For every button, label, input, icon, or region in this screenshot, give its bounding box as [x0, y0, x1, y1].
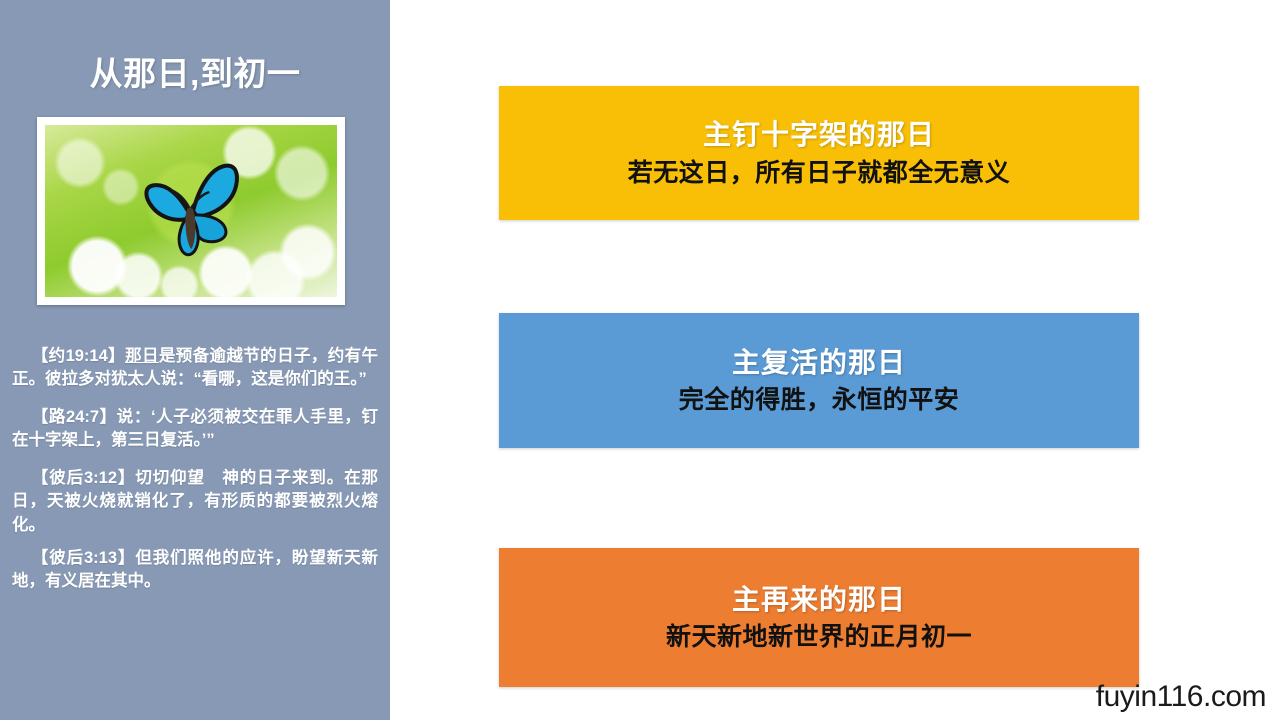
panel-subtext-2: 完全的得胜，永恒的平安 [679, 385, 960, 415]
verse-reference-2: 【路24:7】 [32, 408, 117, 426]
content-panel-crucifixion: 主钉十字架的那日 若无这日，所有日子就都全无意义 [499, 86, 1139, 220]
panel-heading-1: 主钉十字架的那日 [703, 118, 935, 151]
page-title: 从那日,到初一 [0, 56, 390, 92]
scripture-verse-1: 【约19:14】那日是预备逾越节的日子，约有午正。彼拉多对犹太人说：“看哪，这是… [8, 345, 382, 392]
scripture-verse-3: 【彼后3:12】切切仰望 神的日子来到。在那日，天被火烧就销化了，有形质的都要被… [8, 467, 382, 537]
verse-underlined-1: 那日 [125, 347, 159, 365]
butterfly-photo [45, 125, 337, 297]
photo-frame [37, 117, 345, 305]
verse-reference-1: 【约19:14】 [32, 347, 125, 365]
site-watermark: fuyin116.com [1096, 680, 1266, 714]
scripture-verse-4: 【彼后3:13】但我们照他的应许，盼望新天新地，有义居在其中。 [8, 547, 382, 594]
verse-reference-4: 【彼后3:13】 [32, 549, 136, 567]
presentation-slide: 从那日,到初一 [0, 0, 1280, 720]
sidebar-panel: 从那日,到初一 [0, 0, 390, 720]
panel-heading-2: 主复活的那日 [732, 346, 906, 379]
content-panel-resurrection: 主复活的那日 完全的得胜，永恒的平安 [499, 313, 1139, 448]
panel-subtext-3: 新天新地新世界的正月初一 [666, 622, 972, 652]
content-panel-second-coming: 主再来的那日 新天新地新世界的正月初一 [499, 548, 1139, 687]
verse-reference-3: 【彼后3:12】 [32, 469, 136, 487]
panel-subtext-1: 若无这日，所有日子就都全无意义 [628, 158, 1011, 188]
scripture-list: 【约19:14】那日是预备逾越节的日子，约有午正。彼拉多对犹太人说：“看哪，这是… [8, 345, 382, 608]
scripture-verse-2: 【路24:7】说：‘人子必须被交在罪人手里，钉在十字架上，第三日复活。’” [8, 406, 382, 453]
butterfly-icon [125, 157, 257, 265]
panel-heading-3: 主再来的那日 [732, 583, 906, 616]
